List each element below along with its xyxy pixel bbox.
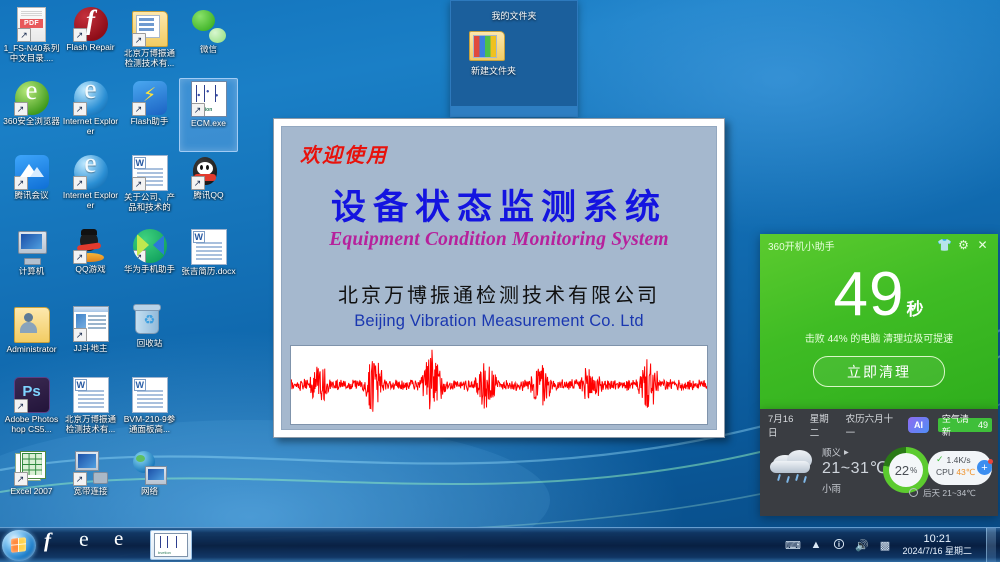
shortcut-arrow-icon: ↗: [133, 250, 146, 263]
shortcut-arrow-icon: ↗: [73, 176, 87, 190]
desktop-icon-empty-slot: [179, 300, 238, 374]
system-tray: ⌨ ▲ 🛈 🔊 ▩ 10:21 2024/7/16 星期二: [785, 528, 1000, 562]
boot-seconds-unit: 秒: [906, 300, 924, 319]
company-name-english: Beijing Vibration Measurement Co. Ltd: [282, 312, 716, 331]
desktop-icon-computer[interactable]: 计算机: [2, 226, 61, 300]
recycle-bin-icon: [133, 303, 167, 337]
tshirt-icon[interactable]: 👕: [937, 238, 952, 253]
photoshop-icon: ↗: [14, 377, 50, 413]
shortcut-arrow-icon: ↗: [132, 33, 146, 47]
desktop-icon-pdf-catalog[interactable]: ↗ 1_FS-N40系列中文目录....: [2, 4, 61, 78]
desktop-icon-flash-assistant[interactable]: ↗ Flash助手: [120, 78, 179, 152]
desktop-icon-label: ECM.exe: [180, 119, 237, 129]
jj-landlord-icon: ↗: [73, 306, 109, 342]
ai-button[interactable]: AI: [908, 417, 929, 433]
desktop-icon-label: 关于公司、产品和技术的介...: [121, 193, 178, 213]
qq-icon: ↗: [192, 155, 226, 189]
excel-icon: ↗: [15, 451, 49, 485]
desktop-icon-recycle-bin[interactable]: 回收站: [120, 300, 179, 374]
close-icon[interactable]: ✕: [975, 238, 990, 253]
shortcut-arrow-icon: ↗: [73, 102, 87, 116]
desktop-icon-label: 华为手机助手: [121, 265, 178, 275]
date-label: 7月16日: [768, 411, 801, 439]
desktop-icon-label: 回收站: [121, 339, 178, 349]
taskbar-clock[interactable]: 10:21 2024/7/16 星期二: [900, 533, 978, 557]
desktop-icon-label: Flash Repair: [62, 43, 119, 53]
desktop-icon-label: Flash助手: [121, 117, 178, 127]
shortcut-arrow-icon: ↗: [132, 102, 146, 116]
shortcut-arrow-icon: ↗: [73, 472, 87, 486]
boot-assistant-title: 360开机小助手: [768, 238, 933, 253]
check-icon: ✓: [936, 454, 944, 465]
folder-window-title: 我的文件夹: [451, 9, 577, 22]
air-quality-badge: 空气清新 49: [938, 418, 992, 432]
document-icon: W: [132, 377, 168, 413]
desktop-icon-label: Administrator: [3, 345, 60, 355]
desktop-icon-flash-repair[interactable]: ↗ Flash Repair: [61, 4, 120, 78]
shortcut-arrow-icon: ↗: [14, 176, 28, 190]
desktop-icon-empty-slot-2: [179, 374, 238, 448]
cpu-temp-row: CPU 43℃: [936, 467, 975, 478]
boot-assistant-description: 击败 44% 的电脑 清理垃圾可提速: [760, 330, 998, 345]
shortcut-arrow-icon: ↗: [17, 28, 31, 42]
wechat-icon: [192, 9, 226, 43]
shortcut-arrow-icon: ↗: [14, 102, 28, 116]
shortcut-arrow-icon: ↗: [191, 176, 205, 190]
desktop-icon-resume-docx[interactable]: W 张吉简历.docx: [179, 226, 238, 300]
cpu-label: CPU: [936, 467, 954, 477]
desktop-icon-label: BVM-210-9参通面板高...: [121, 415, 178, 434]
folder-icon: ↗: [132, 11, 168, 47]
desktop-icon-huawei-assistant[interactable]: ↗ 华为手机助手: [120, 226, 179, 300]
pdf-file-icon: ↗: [17, 7, 46, 42]
app-title-chinese: 设备状态监测系统: [282, 179, 716, 230]
ecm-app-icon: bvetion: [154, 533, 188, 557]
desktop-icon-administrator[interactable]: Administrator: [2, 300, 61, 374]
taskbar: bvetion ⌨ ▲ 🛈 🔊 ▩ 10:21 2024/7/16 星期二: [0, 527, 1000, 562]
boot-assistant-header: 360开机小助手 👕 ⚙ ✕: [760, 234, 998, 256]
weather-temp-range: 21~31℃: [822, 458, 888, 478]
desktop-icon-photoshop[interactable]: ↗ Adobe Photoshop CS5...: [2, 374, 61, 448]
desktop-icon-internet-explorer-2[interactable]: ↗ Internet Explorer: [61, 152, 120, 226]
splash-panel: 欢迎使用 设备状态监测系统 Equipment Condition Monito…: [281, 126, 717, 430]
action-center-icon[interactable]: 🛈: [831, 538, 846, 553]
weekday-label: 星期二: [810, 411, 837, 439]
desktop-icon-ecm-exe[interactable]: bvetion↗ ECM.exe: [179, 78, 238, 152]
desktop-icon-label: 计算机: [3, 267, 60, 277]
show-desktop-button[interactable]: [986, 528, 996, 562]
status-weather-widget[interactable]: 7月16日 星期二 农历六月十一 AI 空气清新 49 顺义 ▸ 21~31℃ …: [760, 409, 998, 516]
chevron-right-icon: ▸: [844, 447, 849, 458]
desktop-icon-label: 北京万博振通检测技术有...: [62, 415, 119, 434]
cpu-temp-value: 43℃: [956, 467, 975, 477]
folder-window-bottom-strip: [451, 106, 577, 116]
word-document-icon: W↗: [132, 155, 168, 191]
desktop-icon-label: 腾讯会议: [3, 191, 60, 201]
flash-assistant-icon: ↗: [133, 81, 167, 115]
folder-window-item[interactable]: 新建文件夹: [469, 27, 547, 77]
taskbar-active-task-ecm[interactable]: bvetion: [150, 530, 192, 560]
internet-explorer-icon: ↗: [74, 155, 108, 189]
clock-time: 10:21: [902, 533, 972, 545]
desktop-icon-qq-game[interactable]: ↗ QQ游戏: [61, 226, 120, 300]
tencent-meeting-icon: ↗: [15, 155, 49, 189]
gauge-unit: %: [910, 466, 917, 475]
flash-repair-icon: ↗: [74, 7, 108, 41]
desktop-icon-internet-explorer[interactable]: ↗ Internet Explorer: [61, 78, 120, 152]
ecm-app-icon: bvetion↗: [191, 81, 227, 117]
word-document-icon: W: [191, 229, 227, 265]
desktop-icon-label: 360安全浏览器: [3, 117, 60, 127]
network-speed-row: ✓ 1.4K/s: [936, 454, 971, 465]
desktop-icon-label: Internet Explorer: [62, 117, 119, 136]
taskbar-flash-icon[interactable]: [44, 532, 70, 558]
qq-game-icon: ↗: [74, 229, 108, 263]
desktop-icon-jj-landlord[interactable]: ↗ JJ斗地主: [61, 300, 120, 374]
huawei-assistant-icon: ↗: [133, 229, 167, 263]
desktop-icon-wechat[interactable]: 微信: [179, 4, 238, 78]
add-widget-button[interactable]: +: [977, 460, 992, 475]
shortcut-arrow-icon: ↗: [191, 103, 205, 117]
shortcut-arrow-icon: ↗: [14, 399, 28, 413]
start-button[interactable]: [2, 530, 36, 561]
desktop-icon-label: Excel 2007: [3, 487, 60, 497]
air-quality-value: 49: [978, 420, 988, 430]
360-browser-icon: ↗: [15, 81, 49, 115]
network-signal-icon[interactable]: ▩: [877, 538, 892, 553]
weather-location[interactable]: 顺义 ▸: [822, 445, 849, 459]
desktop-icon-company-doc-2[interactable]: W 北京万博振通检测技术有...: [61, 374, 120, 448]
lunar-date-label: 农历六月十一: [846, 411, 900, 439]
desktop-icon-360-browser[interactable]: ↗ 360安全浏览器: [2, 78, 61, 152]
welcome-text: 欢迎使用: [300, 139, 388, 168]
computer-icon: [15, 231, 49, 265]
broadband-connection-icon: ↗: [74, 451, 108, 485]
desktop-icon-label: Adobe Photoshop CS5...: [3, 415, 60, 434]
gauge-value: 22: [895, 463, 909, 478]
shortcut-arrow-icon: ↗: [73, 28, 87, 42]
desktop-icon-excel-2007[interactable]: ↗ Excel 2007: [2, 448, 61, 522]
desktop-icon-label: Internet Explorer: [62, 191, 119, 210]
desktop-icon-label: 腾讯QQ: [180, 191, 237, 201]
desktop-icon-label: 1_FS-N40系列中文目录....: [3, 44, 60, 63]
show-hidden-icons-icon[interactable]: ▲: [808, 538, 823, 553]
boot-seconds-number: 49: [834, 260, 905, 329]
desktop-icon-company-intro-doc[interactable]: W↗ 关于公司、产品和技术的介...: [120, 152, 179, 226]
folder-color-icon: [469, 31, 505, 61]
boot-assistant-widget[interactable]: 360开机小助手 👕 ⚙ ✕ 49秒 击败 44% 的电脑 清理垃圾可提速 立即…: [760, 234, 998, 409]
forecast-label: 后天 21~34℃: [923, 487, 976, 499]
weather-condition: 小雨: [822, 481, 841, 495]
weather-location-label: 顺义: [822, 445, 841, 459]
quick-launch-bar: [44, 532, 140, 558]
word-document-icon: W: [73, 377, 109, 413]
shortcut-arrow-icon: ↗: [14, 472, 28, 486]
desktop-icon-tencent-meeting[interactable]: ↗ 腾讯会议: [2, 152, 61, 226]
sun-icon: [906, 485, 919, 498]
desktop-icon-grid: ↗ 1_FS-N40系列中文目录.... ↗ Flash Repair ↗ 北京…: [2, 4, 238, 522]
shortcut-arrow-icon: ↗: [73, 328, 87, 342]
desktop-icon-broadband-connection[interactable]: ↗ 宽带连接: [61, 448, 120, 522]
rain-cloud-icon: [770, 449, 818, 483]
desktop-icon-tencent-qq[interactable]: ↗ 腾讯QQ: [179, 152, 238, 226]
desktop-icon-label: 微信: [180, 45, 237, 55]
folder-window-item-label: 新建文件夹: [469, 64, 547, 77]
taskbar-360-browser-icon[interactable]: [114, 532, 140, 558]
clock-date: 2024/7/16 星期二: [902, 545, 972, 557]
network-speed-value: 1.4K/s: [947, 455, 971, 465]
gauge-value-text: 22%: [889, 453, 923, 487]
shortcut-arrow-icon: ↗: [132, 177, 146, 191]
vibration-waveform-chart: [290, 345, 708, 425]
desktop-icon-company-folder[interactable]: ↗ 北京万博振通检测技术有...: [120, 4, 179, 78]
desktop-icon-label: JJ斗地主: [62, 344, 119, 354]
desktop-icon-network[interactable]: 网络: [120, 448, 179, 522]
keyboard-icon[interactable]: ⌨: [785, 538, 800, 553]
gear-icon[interactable]: ⚙: [956, 238, 971, 253]
internet-explorer-icon: ↗: [74, 81, 108, 115]
desktop-icon-label: 张吉简历.docx: [180, 267, 237, 277]
desktop-icon-label: QQ游戏: [62, 265, 119, 275]
user-folder-icon: [14, 307, 50, 343]
taskbar-internet-explorer-icon[interactable]: [79, 532, 105, 558]
ecm-splash-window[interactable]: 欢迎使用 设备状态监测系统 Equipment Condition Monito…: [273, 118, 725, 438]
windows-logo-icon: [11, 537, 26, 553]
clean-now-button[interactable]: 立即清理: [813, 356, 945, 387]
desktop-icon-label: 北京万博振通检测技术有...: [121, 49, 178, 68]
air-quality-label: 空气清新: [942, 412, 975, 438]
status-widget-top-row: 7月16日 星期二 农历六月十一 AI 空气清新 49: [768, 416, 992, 434]
shortcut-arrow-icon: ↗: [73, 250, 87, 264]
app-title-english: Equipment Condition Monitoring System: [282, 229, 716, 251]
folder-window[interactable]: 我的文件夹 新建文件夹: [450, 0, 578, 117]
desktop-icon-label: 宽带连接: [62, 487, 119, 497]
network-icon: [133, 451, 167, 485]
desktop-icon-bvm-210-9-doc[interactable]: W BVM-210-9参通面板高...: [120, 374, 179, 448]
desktop-icon-label: 网络: [121, 487, 178, 497]
company-name-chinese: 北京万博振通检测技术有限公司: [282, 279, 716, 308]
volume-icon[interactable]: 🔊: [854, 538, 869, 553]
waveform-svg: [291, 346, 707, 424]
